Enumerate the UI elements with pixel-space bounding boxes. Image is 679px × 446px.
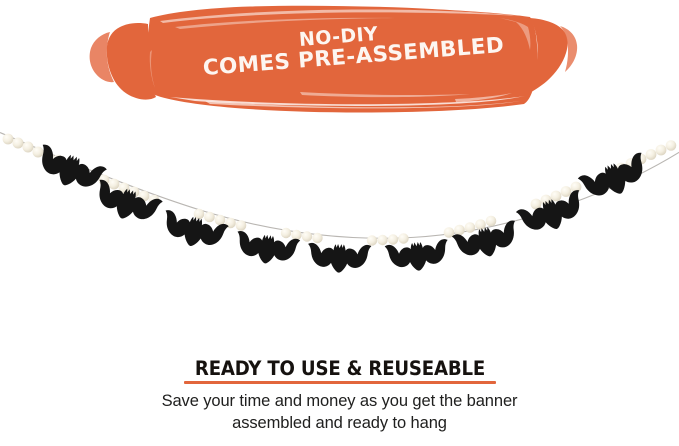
bat-4 (234, 231, 301, 268)
footer-subtitle-line-2: assembled and ready to hang (0, 413, 679, 435)
footer-subtitle: Save your time and money as you get the … (0, 391, 679, 434)
headline-underline (184, 381, 496, 384)
bat-5 (307, 243, 371, 274)
promo-banner: NO-DIY COMES PRE-ASSEMBLED (0, 0, 679, 130)
garland-illustration (0, 126, 679, 296)
footer-headline-row: READY TO USE & REUSEABLE (178, 358, 502, 384)
footer-text-block: READY TO USE & REUSEABLE Save your time … (0, 358, 679, 434)
footer-subtitle-line-1: Save your time and money as you get the … (0, 391, 679, 413)
footer-headline: READY TO USE & REUSEABLE (194, 358, 484, 380)
bat-bead-garland (0, 126, 679, 296)
brush-stroke-shape (0, 0, 679, 130)
bead-cluster-5 (367, 233, 409, 245)
bead-cluster-4 (281, 228, 323, 243)
